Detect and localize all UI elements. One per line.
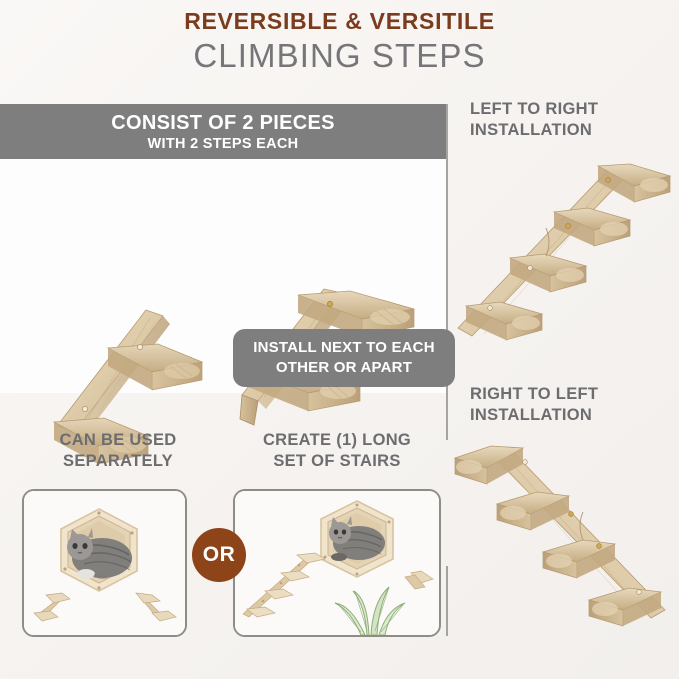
- caption-create-long-set-of-stairs: CREATE (1) LONG SET OF STAIRS: [232, 430, 442, 473]
- photo-left-scene: [24, 491, 185, 635]
- vertical-divider-bottom: [446, 566, 448, 636]
- caption-left-to-right-installation: LEFT TO RIGHT INSTALLATION: [470, 99, 670, 142]
- page-title: REVERSIBLE & VERSITILE CLIMBING STEPS: [0, 8, 679, 77]
- banner-subheadline: WITH 2 STEPS EACH: [148, 135, 299, 153]
- title-line-primary: REVERSIBLE & VERSITILE: [0, 8, 679, 34]
- assembly-left-to-right-illustration: [458, 158, 678, 353]
- title-line-secondary: CLIMBING STEPS: [0, 35, 679, 76]
- badge-line-2: OTHER OR APART: [276, 358, 412, 378]
- or-divider-badge: OR: [192, 528, 246, 582]
- caption-line-2: SEPARATELY: [18, 451, 218, 472]
- caption-line-2: SET OF STAIRS: [232, 451, 442, 472]
- badge-install-next-to-each-other: INSTALL NEXT TO EACH OTHER OR APART: [233, 329, 455, 387]
- caption-can-be-used-separately: CAN BE USED SEPARATELY: [18, 430, 218, 473]
- photo-continuous-stairs: [233, 489, 441, 637]
- caption-line-2: INSTALLATION: [470, 120, 670, 141]
- caption-right-to-left-installation: RIGHT TO LEFT INSTALLATION: [470, 384, 670, 427]
- banner-consist-of-2-pieces: CONSIST OF 2 PIECES WITH 2 STEPS EACH: [0, 104, 446, 159]
- photo-separate-steps: [22, 489, 187, 637]
- caption-line-1: CREATE (1) LONG: [232, 430, 442, 451]
- caption-line-1: CAN BE USED: [18, 430, 218, 451]
- caption-line-1: LEFT TO RIGHT: [470, 99, 670, 120]
- assembly-right-to-left-illustration: [455, 440, 677, 645]
- caption-line-1: RIGHT TO LEFT: [470, 384, 670, 405]
- badge-line-1: INSTALL NEXT TO EACH: [253, 338, 435, 358]
- caption-line-2: INSTALLATION: [470, 405, 670, 426]
- photo-right-scene: [235, 491, 439, 635]
- vertical-divider-middle: [446, 393, 448, 440]
- banner-headline: CONSIST OF 2 PIECES: [111, 112, 335, 134]
